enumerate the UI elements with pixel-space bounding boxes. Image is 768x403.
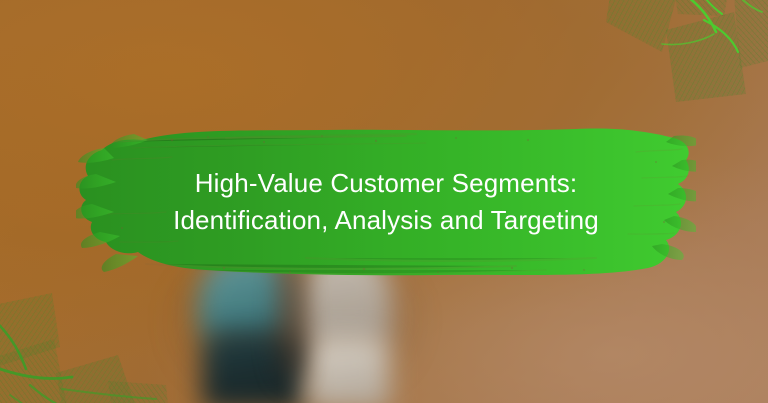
figure-light-trousers [306, 336, 390, 403]
title-line-2: Identification, Analysis and Targeting [173, 203, 599, 238]
hero-banner-image: High-Value Customer Segments: Identifica… [0, 0, 768, 403]
title-banner: High-Value Customer Segments: Identifica… [76, 118, 696, 286]
banner-title-block: High-Value Customer Segments: Identifica… [76, 118, 696, 286]
title-line-1: High-Value Customer Segments: [195, 166, 577, 201]
